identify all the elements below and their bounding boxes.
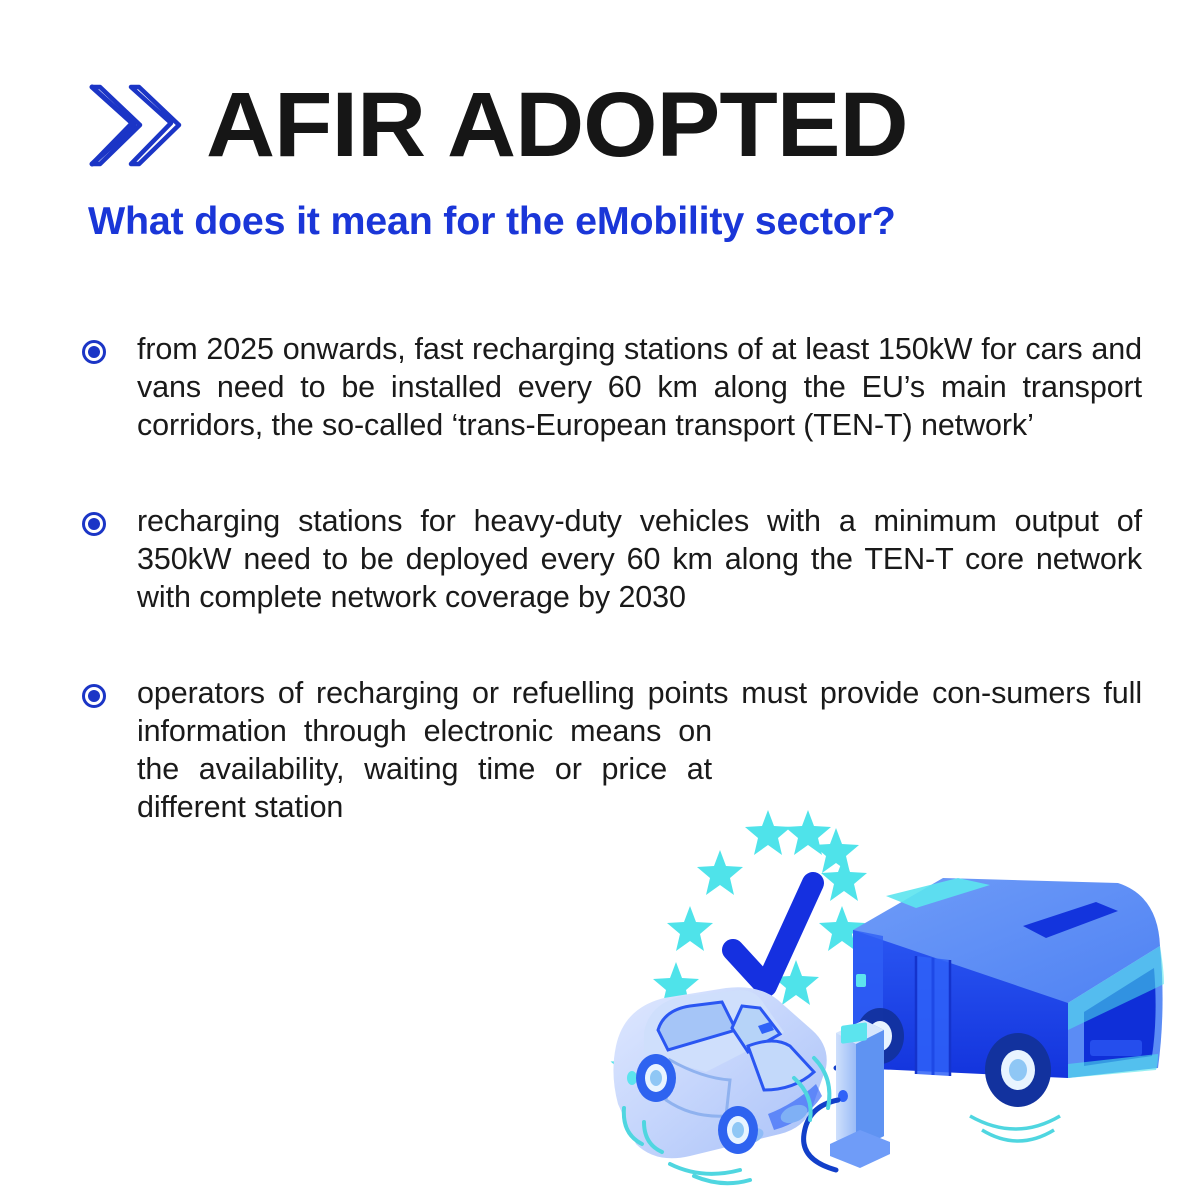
bus-wheel-rear xyxy=(985,1033,1051,1107)
filled-ring-bullet-icon xyxy=(82,512,106,536)
double-chevron-right-icon xyxy=(78,75,188,175)
bus-motion-ripples xyxy=(970,1116,1060,1141)
blue-checkmark xyxy=(733,883,813,986)
electric-car xyxy=(613,987,829,1183)
page-title: AFIR ADOPTED xyxy=(206,79,908,171)
header: AFIR ADOPTED xyxy=(78,70,1138,180)
bullet-text-2: recharging stations for heavy-duty vehic… xyxy=(137,502,1142,616)
filled-ring-bullet-icon xyxy=(82,684,106,708)
list-item: from 2025 onwards, fast recharging stati… xyxy=(82,330,1142,444)
list-item: recharging stations for heavy-duty vehic… xyxy=(82,502,1142,616)
filled-ring-bullet-icon xyxy=(82,340,106,364)
electric-bus xyxy=(836,878,1164,1141)
bus-doors xyxy=(916,956,950,1076)
page-subtitle: What does it mean for the eMobility sect… xyxy=(88,200,896,244)
ev-charging-scene-illustration xyxy=(598,778,1188,1186)
car-wheel-front xyxy=(718,1106,758,1154)
bullet-text-1: from 2025 onwards, fast recharging stati… xyxy=(137,330,1142,444)
poster-canvas: AFIR ADOPTED What does it mean for the e… xyxy=(0,0,1200,1201)
car-wheel-rear xyxy=(636,1054,676,1102)
